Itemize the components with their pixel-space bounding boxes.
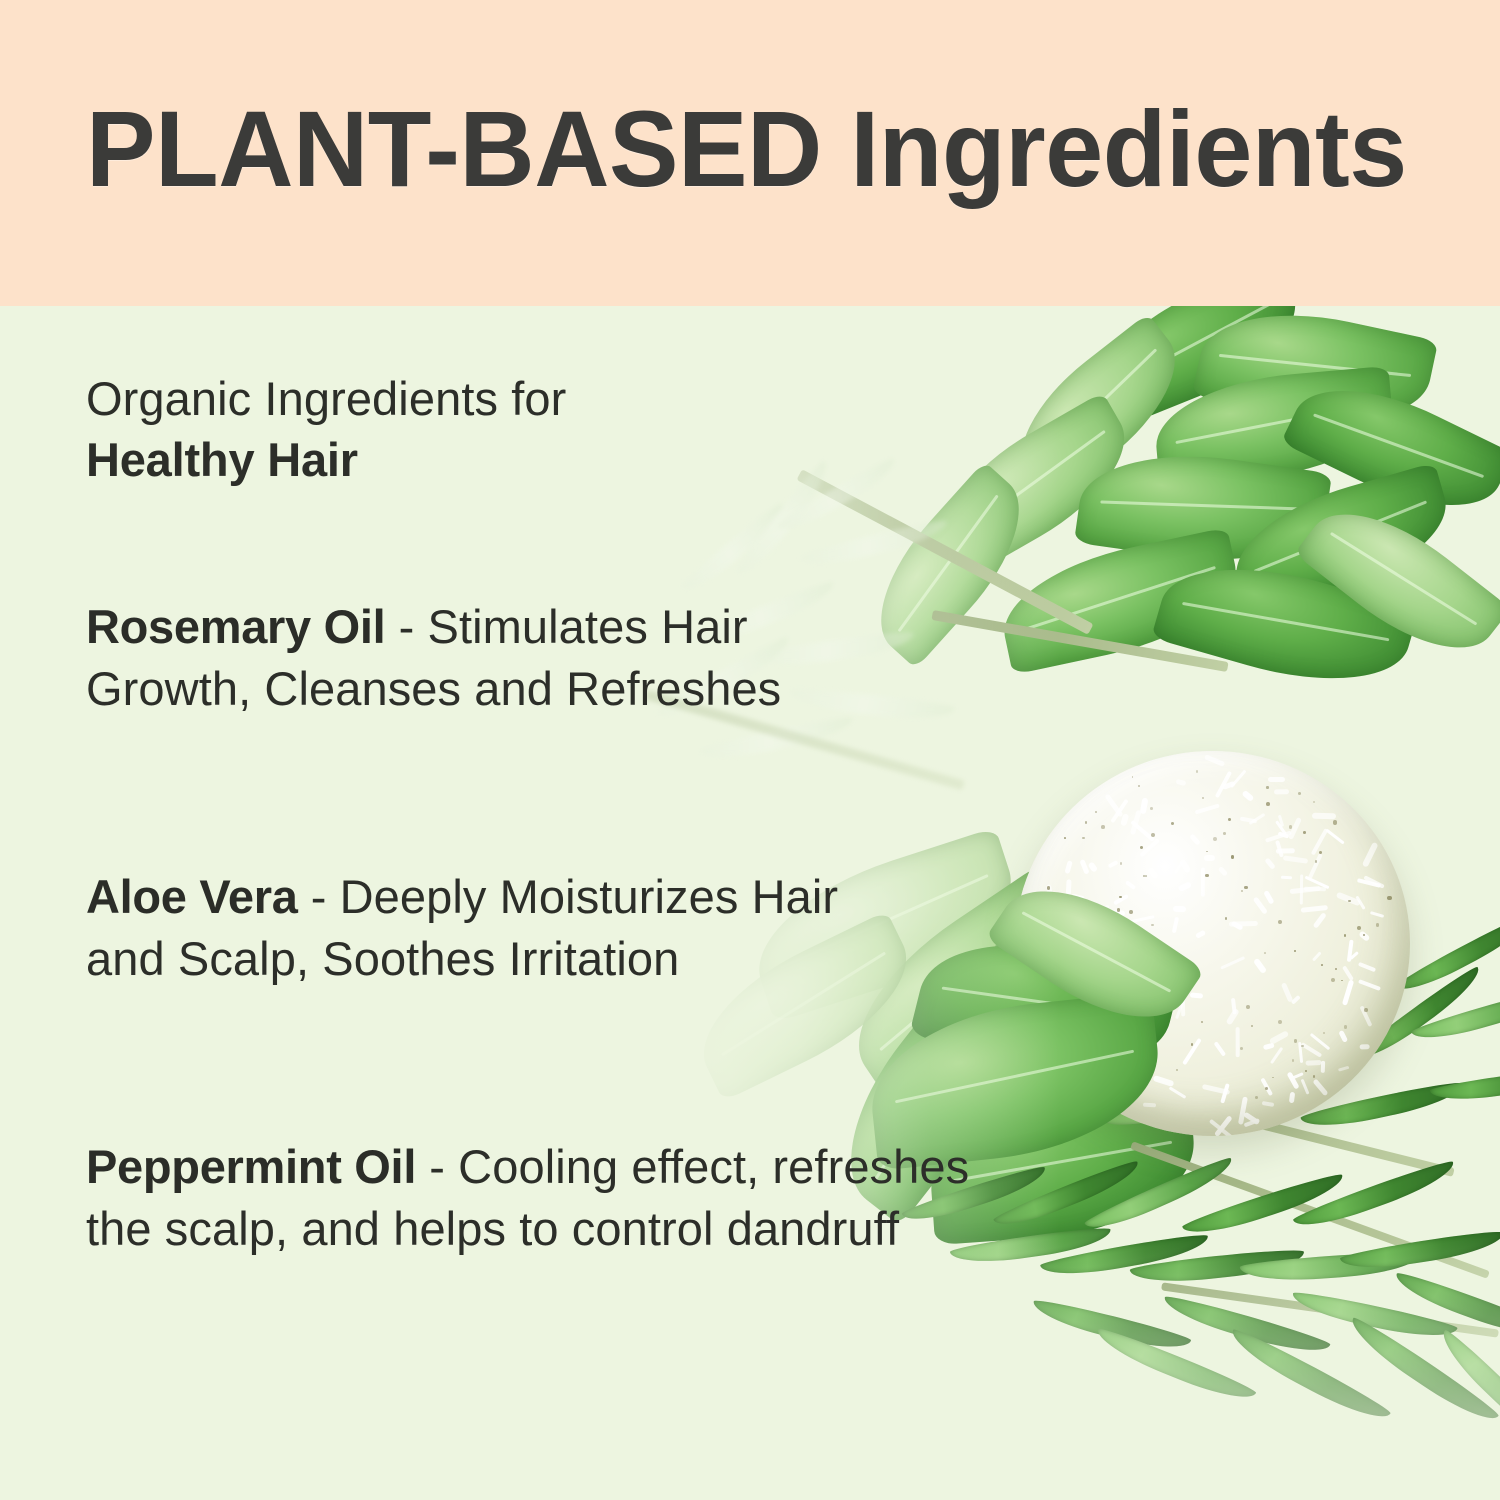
coconut-flake xyxy=(1214,1041,1226,1056)
herb-speck xyxy=(1085,821,1088,824)
herb-speck xyxy=(1151,833,1155,837)
ingredient-separator: - xyxy=(416,1140,458,1193)
herb-speck xyxy=(1223,832,1226,835)
coconut-flake xyxy=(1307,853,1322,879)
herb-speck xyxy=(1191,1043,1193,1045)
herb-speck xyxy=(1129,910,1133,914)
herb-speck xyxy=(1095,811,1097,813)
coconut-flake xyxy=(1238,1097,1248,1125)
herb-speck xyxy=(1335,968,1337,970)
herb-speck xyxy=(1145,875,1147,877)
coconut-flake xyxy=(1312,813,1336,819)
coconut-flake xyxy=(1178,882,1193,893)
coconut-flake xyxy=(1338,1066,1350,1072)
coconut-flake xyxy=(1338,1030,1348,1043)
coconut-flake xyxy=(1143,1102,1156,1107)
coconut-flake xyxy=(1312,952,1322,962)
herb-speck xyxy=(1278,1020,1282,1024)
coconut-flake xyxy=(1300,874,1304,905)
herb-speck xyxy=(1140,846,1143,849)
herb-speck xyxy=(1294,950,1296,952)
page-title: PLANT-BASED Ingredients xyxy=(86,95,1407,203)
herb-speck xyxy=(1278,920,1282,924)
herb-speck xyxy=(1176,1069,1178,1071)
coconut-flake xyxy=(1321,1061,1325,1073)
coconut-flake xyxy=(1325,828,1344,844)
coconut-flake xyxy=(1253,958,1267,975)
coconut-flake xyxy=(1312,912,1326,929)
rosemary-needle xyxy=(679,500,790,597)
coconut-flake xyxy=(1230,769,1247,788)
coconut-flake xyxy=(1261,1101,1274,1107)
herb-speck xyxy=(1321,964,1323,966)
ingredient-name: Aloe Vera xyxy=(86,870,298,923)
coconut-flake xyxy=(1341,965,1353,980)
coconut-flake xyxy=(1360,1044,1370,1050)
herb-speck xyxy=(1319,851,1322,854)
coconut-flake xyxy=(1179,858,1191,873)
herb-speck xyxy=(1213,837,1217,841)
coconut-flake xyxy=(1281,875,1292,879)
ingredient-name: Peppermint Oil xyxy=(86,1140,416,1193)
coconut-flake xyxy=(1226,1008,1240,1026)
coconut-flake xyxy=(1190,992,1203,998)
herb-speck xyxy=(1201,1021,1203,1023)
herb-speck xyxy=(1272,1077,1274,1079)
coconut-flake xyxy=(1169,1086,1186,1098)
coconut-flake xyxy=(1147,866,1159,879)
coconut-flake xyxy=(1196,930,1207,939)
ingredient-separator: - xyxy=(298,870,340,923)
herb-speck xyxy=(1344,934,1347,937)
coconut-flake xyxy=(1293,1072,1304,1079)
coconut-flake xyxy=(1204,754,1225,767)
herb-speck xyxy=(1225,917,1227,919)
herb-speck xyxy=(1240,1047,1243,1050)
rosemary-needle xyxy=(800,517,950,572)
herb-speck xyxy=(1303,831,1306,834)
coconut-flake xyxy=(1301,1079,1310,1095)
coconut-flake xyxy=(1341,979,1353,1005)
coconut-flake xyxy=(1269,1031,1289,1046)
herb-speck xyxy=(1264,952,1266,954)
herb-speck xyxy=(1344,1025,1348,1029)
coconut-flake xyxy=(1201,868,1206,897)
header-band: PLANT-BASED Ingredients xyxy=(0,0,1500,306)
herb-speck xyxy=(1205,874,1209,878)
herb-speck xyxy=(1231,855,1234,858)
herb-speck xyxy=(1251,1025,1253,1027)
herb-speck xyxy=(1241,890,1243,892)
coconut-flake xyxy=(1362,842,1379,868)
coconut-flake xyxy=(1079,859,1089,875)
coconut-flake xyxy=(1290,885,1321,894)
ingredient-separator: - xyxy=(385,600,427,653)
herb-speck xyxy=(1364,1008,1368,1012)
coconut-flake xyxy=(1291,996,1301,1005)
herb-speck xyxy=(1244,886,1247,889)
coconut-flake xyxy=(1152,1075,1174,1087)
coconut-flake xyxy=(1253,897,1268,915)
coconut-flake xyxy=(1276,848,1295,854)
coconut-flake xyxy=(1189,833,1201,845)
coconut-flake xyxy=(1236,1027,1240,1057)
herb-speck xyxy=(1150,807,1153,810)
herb-speck xyxy=(1313,801,1316,804)
herb-speck xyxy=(1294,1039,1297,1042)
herb-speck xyxy=(1101,825,1105,829)
herb-speck xyxy=(1266,786,1268,788)
herb-speck xyxy=(1387,896,1391,900)
herb-speck xyxy=(1138,785,1141,788)
herb-speck xyxy=(1171,822,1174,825)
coconut-flake xyxy=(1336,891,1361,906)
coconut-flake xyxy=(1305,1059,1321,1065)
coconut-flake xyxy=(1265,858,1277,870)
ingredient-item-aloe-vera: Aloe Vera - Deeply Moisturizes Hair and … xyxy=(86,866,896,989)
herb-speck xyxy=(1117,908,1121,912)
herb-speck xyxy=(1266,802,1270,806)
ingredient-item-rosemary-oil: Rosemary Oil - Stimulates Hair Growth, C… xyxy=(86,596,896,719)
herb-speck xyxy=(1357,926,1361,930)
intro-paragraph: Organic Ingredients for Healthy Hair xyxy=(86,368,846,490)
herb-speck xyxy=(1289,825,1293,829)
coconut-flake xyxy=(1310,1032,1331,1049)
herb-speck xyxy=(1206,851,1208,853)
herb-speck xyxy=(1331,978,1335,982)
ingredient-item-peppermint-oil: Peppermint Oil - Cooling effect, refresh… xyxy=(86,1136,986,1259)
rosemary-needle xyxy=(1030,1297,1192,1357)
coconut-flake xyxy=(1268,777,1285,783)
coconut-flake xyxy=(1300,1042,1322,1057)
coconut-flake xyxy=(1220,956,1245,970)
coconut-flake xyxy=(1176,779,1187,786)
herb-speck xyxy=(1376,923,1379,926)
herb-speck xyxy=(1313,1075,1315,1077)
herb-speck xyxy=(1132,776,1134,778)
herb-speck xyxy=(1120,862,1122,864)
coconut-flake xyxy=(1301,904,1328,912)
coconut-flake xyxy=(1242,789,1255,801)
herb-speck xyxy=(1341,980,1343,982)
herb-speck xyxy=(1202,797,1204,799)
coconut-flake xyxy=(1173,905,1186,911)
herb-speck xyxy=(1292,1059,1294,1061)
coconut-flake xyxy=(1264,890,1275,905)
herb-speck xyxy=(1196,770,1199,773)
herb-speck xyxy=(1298,792,1301,795)
coconut-flake xyxy=(1358,962,1376,972)
coconut-flake xyxy=(1107,860,1118,868)
coconut-flake xyxy=(1313,1078,1329,1096)
coconut-flake xyxy=(1370,911,1385,918)
coconut-flake xyxy=(1139,798,1148,815)
coconut-flake xyxy=(1204,855,1215,861)
herb-speck xyxy=(1333,820,1337,824)
infographic-page: PLANT-BASED Ingredients xyxy=(0,0,1500,1500)
coconut-flake xyxy=(1270,1047,1283,1064)
herb-speck xyxy=(1323,1032,1325,1034)
coconut-flake xyxy=(1125,880,1136,890)
coconut-flake xyxy=(1195,804,1220,815)
coconut-flake xyxy=(1282,856,1307,865)
coconut-flake xyxy=(1218,866,1228,877)
herb-speck xyxy=(1228,818,1231,821)
coconut-flake xyxy=(1140,839,1160,858)
ingredient-name: Rosemary Oil xyxy=(86,600,385,653)
herb-speck xyxy=(1082,837,1084,839)
coconut-flake xyxy=(1274,789,1289,795)
coconut-flake xyxy=(1290,1092,1296,1103)
coconut-flake xyxy=(1358,979,1381,991)
herb-speck xyxy=(1305,1070,1307,1072)
intro-line-1: Organic Ingredients for xyxy=(86,372,566,425)
herb-speck xyxy=(1151,924,1153,926)
herb-speck xyxy=(1255,1096,1258,1099)
intro-line-2: Healthy Hair xyxy=(86,433,358,486)
herb-speck xyxy=(1246,1005,1250,1009)
coconut-flake xyxy=(1171,917,1179,934)
